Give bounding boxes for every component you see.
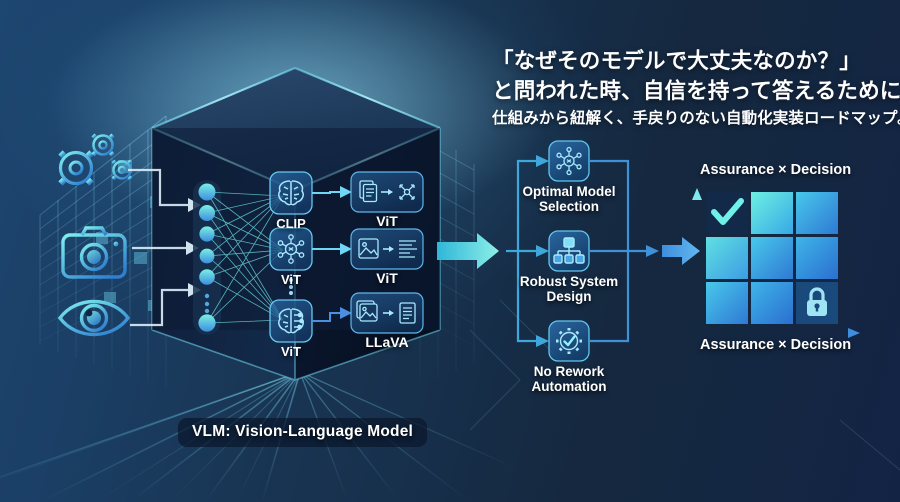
infographic-canvas: CLIP ViT ViT ViT ViT LLaVA VLM: Vision-L… [0, 0, 900, 502]
matrix-title: Assurance × Decision [700, 162, 851, 178]
matrix-cell-0-1 [751, 192, 793, 234]
headline-line-1: 「なぜそのモデルで大丈夫なのか？」 [492, 44, 861, 75]
matrix-cell-1-0 [706, 237, 748, 279]
matrix-cell-2-1 [751, 282, 793, 324]
matrix-cell-1-1 [751, 237, 793, 279]
matrix-caption: Assurance × Decision [700, 337, 851, 353]
matrix-cell-2-0 [706, 282, 748, 324]
matrix-cell-0-2 [796, 192, 838, 234]
matrix-cell-1-2 [796, 237, 838, 279]
matrix-y-arrowhead [692, 188, 702, 200]
headline-line-2: と問われた時、自信を持って答えるために。 [492, 74, 900, 105]
matrix-grid [706, 192, 838, 324]
headline-subtitle: 仕組みから紐解く、手戻りのない自動化実装ロードマップ。 [492, 106, 900, 128]
